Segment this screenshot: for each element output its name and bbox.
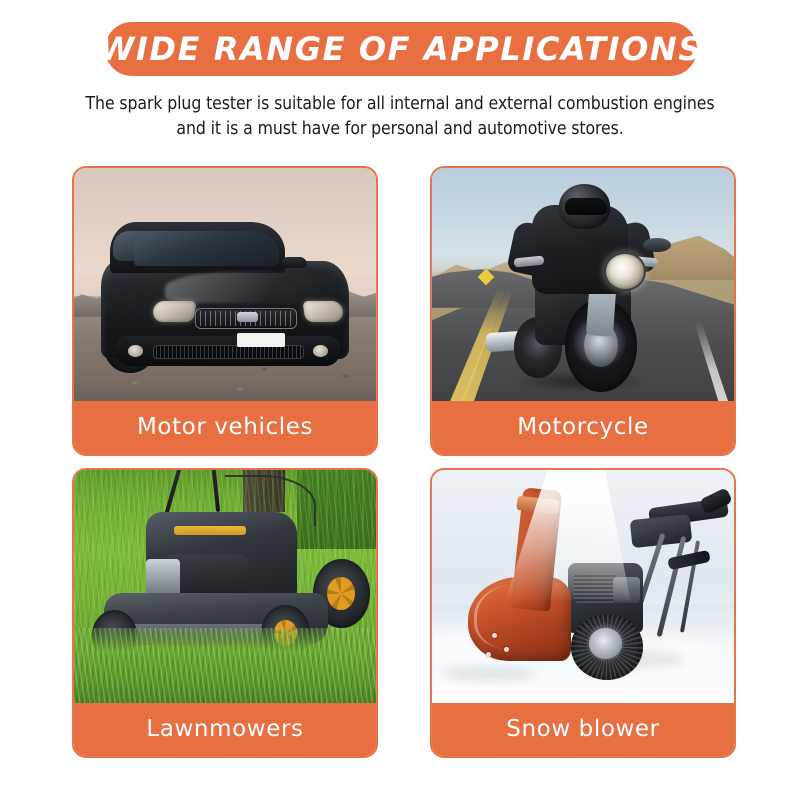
caption-motorcycle: Motorcycle bbox=[432, 401, 734, 454]
mower-air-cleaner bbox=[146, 559, 179, 596]
caption-lawnmowers: Lawnmowers bbox=[74, 703, 376, 756]
snow-spray-plume bbox=[492, 470, 649, 600]
subtitle-block: The spark plug tester is suitable for al… bbox=[20, 92, 780, 143]
application-card-grid: Motor vehicles bbox=[72, 166, 736, 766]
car-scene-illustration bbox=[74, 168, 376, 401]
application-infographic: WIDE RANGE OF APPLICATIONS The spark plu… bbox=[0, 0, 800, 800]
car-license-plate bbox=[237, 333, 285, 347]
car-side-mirror bbox=[282, 257, 306, 269]
motorcycle-mirror bbox=[643, 238, 670, 252]
car-fog-light-left bbox=[128, 345, 143, 357]
photo-lawnmowers bbox=[74, 470, 376, 703]
subtitle-line-2: and it is a must have for personal and a… bbox=[176, 119, 623, 139]
car-headlight-right bbox=[302, 301, 344, 322]
snowblower-scene-illustration bbox=[432, 470, 734, 703]
car-headlight-left bbox=[151, 301, 196, 322]
helmet-visor bbox=[565, 198, 607, 214]
car-badge bbox=[237, 312, 258, 321]
car-lower-air-intake bbox=[153, 345, 304, 359]
caption-snow-blower: Snow blower bbox=[432, 703, 734, 756]
subtitle-line-1: The spark plug tester is suitable for al… bbox=[86, 94, 715, 114]
caption-motor-vehicles: Motor vehicles bbox=[74, 401, 376, 454]
photo-motorcycle bbox=[432, 168, 734, 401]
application-card-motorcycle[interactable]: Motorcycle bbox=[430, 166, 736, 456]
application-card-lawnmowers[interactable]: Lawnmowers bbox=[72, 468, 378, 758]
car-fog-light-right bbox=[313, 345, 328, 357]
photo-snow-blower bbox=[432, 470, 734, 703]
car-windshield bbox=[134, 231, 279, 266]
lawnmower-scene-illustration bbox=[74, 470, 376, 703]
car-hood-highlight bbox=[165, 271, 340, 304]
foreground-grass bbox=[74, 628, 376, 703]
application-card-motor-vehicles[interactable]: Motor vehicles bbox=[72, 166, 378, 456]
mower-brand-strip bbox=[174, 526, 246, 535]
application-card-snow-blower[interactable]: Snow blower bbox=[430, 468, 736, 758]
snowblower-lever bbox=[667, 550, 711, 570]
snow-shadow-near bbox=[444, 668, 535, 680]
snowblower-wheel-hub bbox=[589, 628, 622, 658]
motorcycle-scene-illustration bbox=[432, 168, 734, 401]
page-title: WIDE RANGE OF APPLICATIONS bbox=[99, 33, 703, 65]
header-banner: WIDE RANGE OF APPLICATIONS bbox=[105, 22, 697, 76]
mower-rear-hub bbox=[327, 577, 355, 611]
photo-motor-vehicles bbox=[74, 168, 376, 401]
